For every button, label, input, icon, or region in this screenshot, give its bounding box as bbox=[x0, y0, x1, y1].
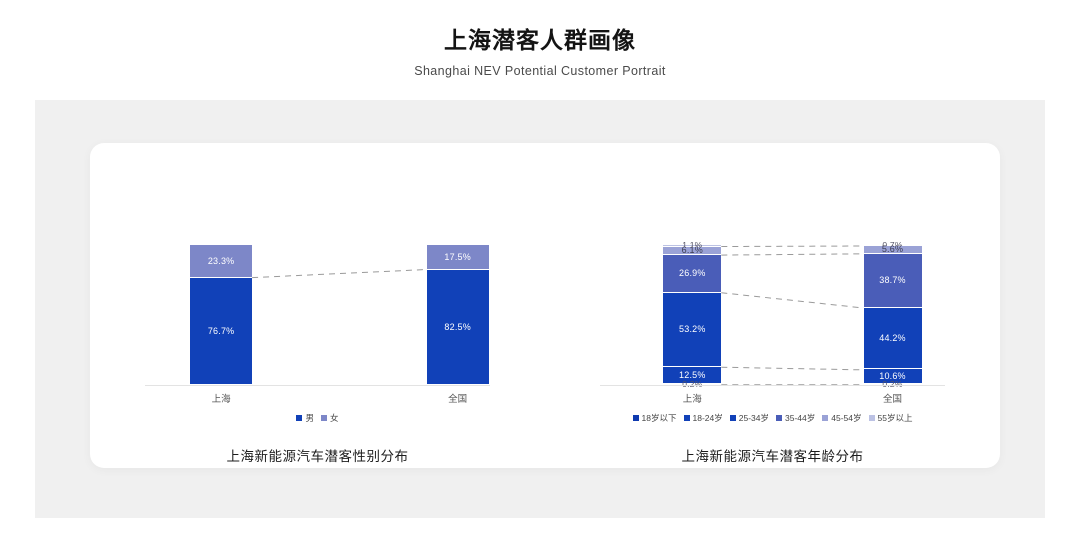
gender-segment-label: 17.5% bbox=[444, 252, 471, 262]
charts-row: 23.3%76.7%上海 17.5%82.5%全国 男女 上海新能源汽车潜客性别… bbox=[90, 143, 1000, 468]
gender-legend-label: 男 bbox=[305, 412, 314, 424]
gender-segment-女[interactable]: 17.5% bbox=[427, 245, 489, 270]
age-legend-item[interactable]: 35-44岁 bbox=[776, 412, 815, 424]
gender-segment-label: 76.7% bbox=[208, 326, 235, 336]
age-legend-item[interactable]: 18岁以下 bbox=[633, 412, 677, 424]
gender-segment-label: 23.3% bbox=[208, 256, 235, 266]
gender-legend-item[interactable]: 男 bbox=[296, 412, 314, 424]
age-category-label: 全国 bbox=[883, 391, 902, 405]
legend-swatch-icon bbox=[633, 415, 639, 421]
legend-swatch-icon bbox=[822, 415, 828, 421]
age-segment-label: 38.7% bbox=[879, 275, 906, 285]
age-bar-shanghai[interactable]: 1.1%6.1%26.9%53.2%12.5%0.2%上海 bbox=[663, 245, 721, 385]
gender-bar-shanghai[interactable]: 23.3%76.7%上海 bbox=[190, 245, 252, 385]
age-segment-25-34岁[interactable]: 44.2% bbox=[864, 308, 922, 370]
age-plot-area: 1.1%6.1%26.9%53.2%12.5%0.2%上海 0.7%5.6%38… bbox=[545, 186, 1000, 386]
gender-plot-area: 23.3%76.7%上海 17.5%82.5%全国 bbox=[90, 186, 545, 386]
age-segment-label: 44.2% bbox=[879, 333, 906, 343]
age-legend-label: 25-34岁 bbox=[739, 412, 769, 424]
gender-chart-block: 23.3%76.7%上海 17.5%82.5%全国 男女 上海新能源汽车潜客性别… bbox=[90, 143, 545, 468]
page-title: 上海潜客人群画像 bbox=[0, 26, 1080, 55]
page-subtitle: Shanghai NEV Potential Customer Portrait bbox=[0, 64, 1080, 78]
legend-swatch-icon bbox=[296, 415, 302, 421]
age-connector bbox=[721, 254, 863, 255]
age-segment-35-44岁[interactable]: 38.7% bbox=[864, 254, 922, 308]
gender-axis-line bbox=[145, 385, 491, 386]
age-axis-line bbox=[600, 385, 946, 386]
age-connector bbox=[721, 246, 863, 247]
gender-segment-label: 82.5% bbox=[444, 322, 471, 332]
gender-category-label: 上海 bbox=[212, 391, 231, 405]
age-connector bbox=[721, 293, 863, 308]
age-legend-label: 55岁以上 bbox=[878, 412, 913, 424]
age-legend-label: 18-24岁 bbox=[693, 412, 723, 424]
page-header: 上海潜客人群画像 Shanghai NEV Potential Customer… bbox=[0, 0, 1080, 78]
legend-swatch-icon bbox=[776, 415, 782, 421]
gender-category-label: 全国 bbox=[448, 391, 467, 405]
age-chart-block: 1.1%6.1%26.9%53.2%12.5%0.2%上海 0.7%5.6%38… bbox=[545, 143, 1000, 468]
legend-swatch-icon bbox=[321, 415, 327, 421]
age-segment-label: 0.2% bbox=[682, 379, 702, 389]
gender-segment-男[interactable]: 76.7% bbox=[190, 278, 252, 385]
age-legend: 18岁以下18-24岁25-34岁35-44岁45-54岁55岁以上 bbox=[633, 412, 913, 424]
age-legend-item[interactable]: 25-34岁 bbox=[730, 412, 769, 424]
age-category-label: 上海 bbox=[683, 391, 702, 405]
legend-swatch-icon bbox=[869, 415, 875, 421]
age-connector bbox=[721, 367, 863, 370]
age-legend-label: 35-44岁 bbox=[785, 412, 815, 424]
gender-legend-item[interactable]: 女 bbox=[321, 412, 339, 424]
gender-legend: 男女 bbox=[296, 412, 338, 424]
legend-swatch-icon bbox=[684, 415, 690, 421]
gender-legend-label: 女 bbox=[330, 412, 339, 424]
gender-segment-女[interactable]: 23.3% bbox=[190, 245, 252, 278]
gender-connector bbox=[252, 270, 427, 278]
age-legend-label: 18岁以下 bbox=[642, 412, 677, 424]
gender-bar-national[interactable]: 17.5%82.5%全国 bbox=[427, 245, 489, 385]
age-segment-35-44岁[interactable]: 26.9% bbox=[663, 255, 721, 292]
age-connector-lines bbox=[545, 186, 1000, 386]
legend-swatch-icon bbox=[730, 415, 736, 421]
age-legend-item[interactable]: 55岁以上 bbox=[869, 412, 913, 424]
gender-chart-caption: 上海新能源汽车潜客性别分布 bbox=[227, 445, 409, 465]
age-segment-label: 53.2% bbox=[679, 324, 706, 334]
age-legend-item[interactable]: 18-24岁 bbox=[684, 412, 723, 424]
age-chart-caption: 上海新能源汽车潜客年龄分布 bbox=[682, 445, 864, 465]
age-bar-national[interactable]: 0.7%5.6%38.7%44.2%10.6%0.2%全国 bbox=[864, 245, 922, 385]
age-segment-45-54岁[interactable]: 6.1% bbox=[663, 247, 721, 256]
age-segment-label: 26.9% bbox=[679, 268, 706, 278]
age-segment-label: 6.1% bbox=[682, 245, 703, 255]
age-segment-25-34岁[interactable]: 53.2% bbox=[663, 293, 721, 367]
age-legend-item[interactable]: 45-54岁 bbox=[822, 412, 861, 424]
age-segment-45-54岁[interactable]: 5.6% bbox=[864, 246, 922, 254]
age-legend-label: 45-54岁 bbox=[831, 412, 861, 424]
age-segment-label: 0.2% bbox=[882, 379, 902, 389]
gender-segment-男[interactable]: 82.5% bbox=[427, 270, 489, 386]
